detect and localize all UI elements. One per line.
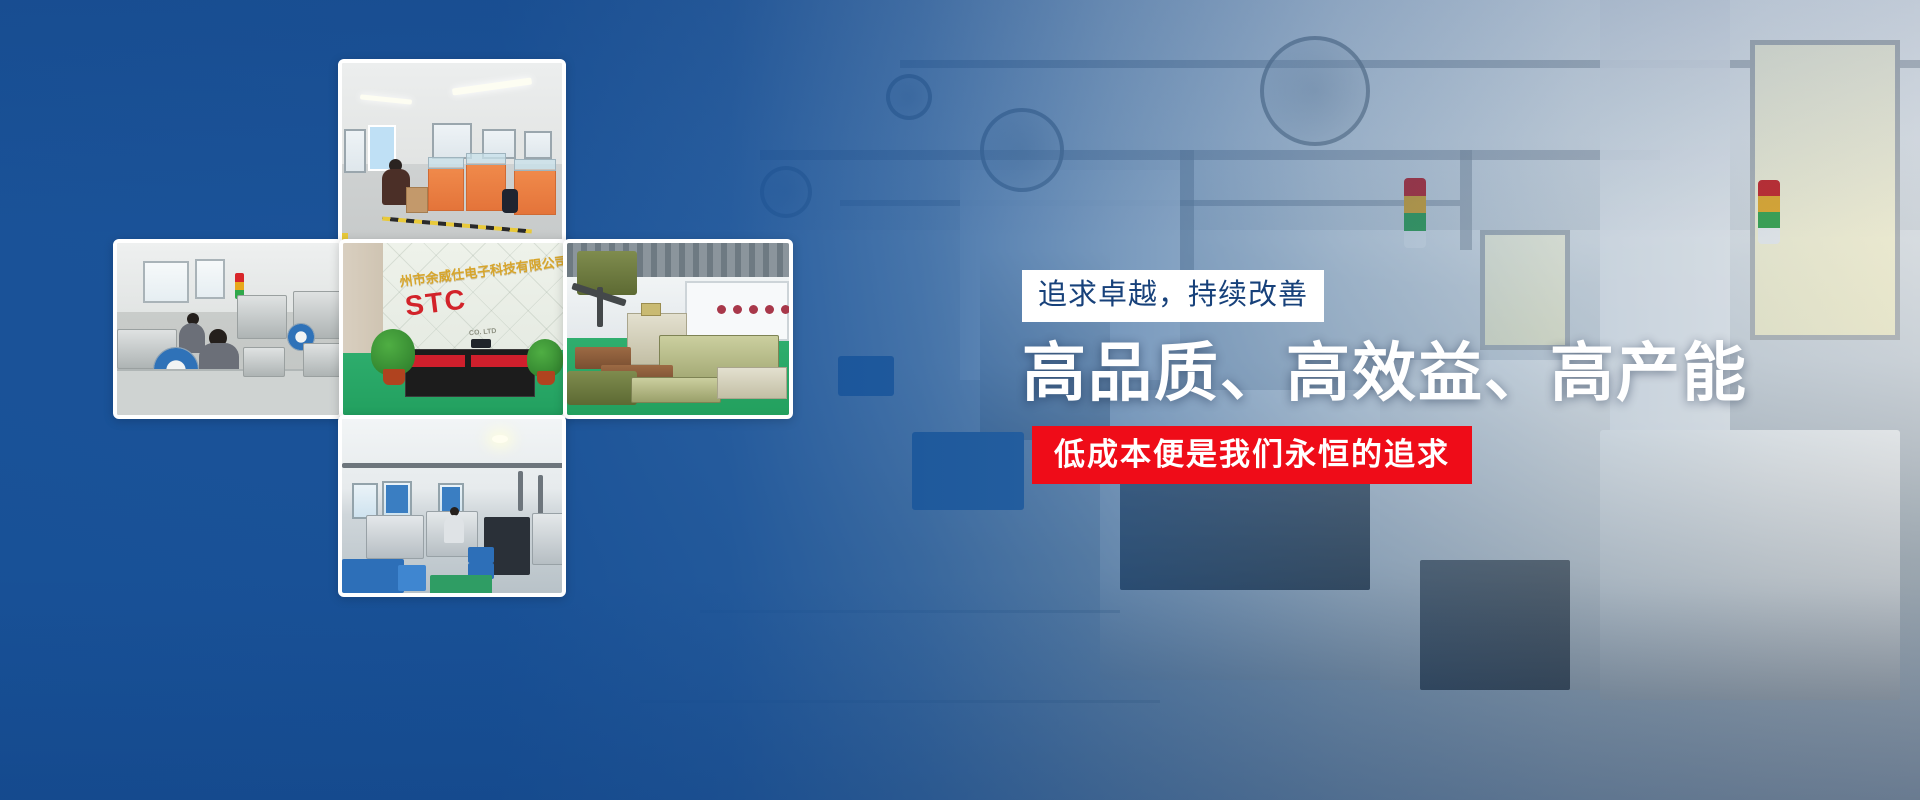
photo-collage: 州市余威仕电子科技有限公司 STC CO. LTD bbox=[0, 0, 900, 800]
collage-photo-center[interactable]: 州市余威仕电子科技有限公司 STC CO. LTD bbox=[339, 239, 567, 419]
collage-photo-left[interactable] bbox=[113, 239, 343, 419]
tagline-badge: 追求卓越，持续改善 bbox=[1022, 270, 1324, 322]
hero-text-block: 追求卓越，持续改善 高品质、高效益、高产能 低成本便是我们永恒的追求 bbox=[1022, 270, 1748, 484]
cta-badge: 低成本便是我们永恒的追求 bbox=[1032, 426, 1472, 484]
collage-photo-bottom[interactable] bbox=[338, 415, 566, 597]
hero-banner: 州市余威仕电子科技有限公司 STC CO. LTD bbox=[0, 0, 1920, 800]
collage-photo-right[interactable] bbox=[563, 239, 793, 419]
headline: 高品质、高效益、高产能 bbox=[1022, 339, 1748, 408]
